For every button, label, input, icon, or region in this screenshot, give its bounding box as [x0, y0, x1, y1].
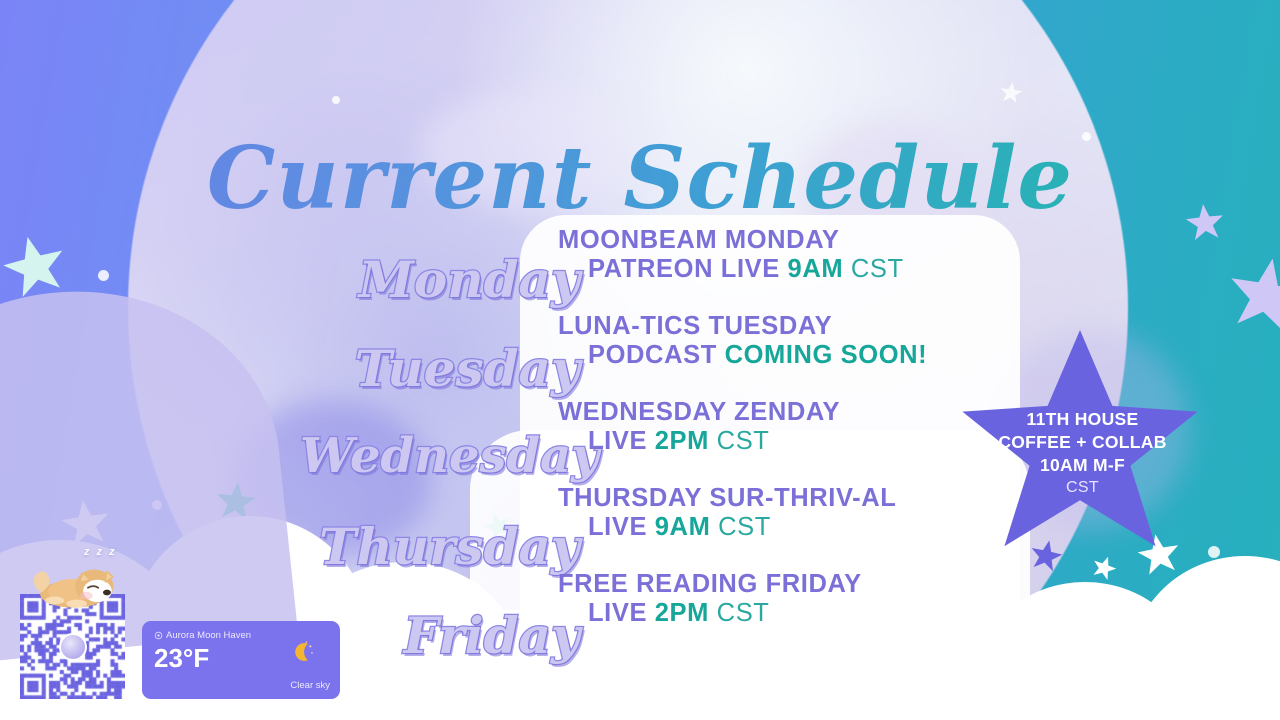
schedule-detail-prefix: LIVE	[588, 427, 655, 455]
day-label-tuesday: Tuesday	[300, 339, 580, 398]
star-icon	[1135, 531, 1184, 580]
schedule-time: 9AM	[655, 513, 711, 541]
badge-line-3: 10AM M-F	[985, 454, 1180, 477]
sparkle-dot	[332, 96, 340, 104]
schedule-timezone: CST	[710, 513, 771, 541]
sparkle-dot	[1208, 546, 1220, 558]
day-label-friday: Friday	[300, 606, 580, 665]
schedule-row-friday: FREE READING FRIDAY LIVE 2PM CST	[558, 570, 1028, 627]
badge-line-4: CST	[985, 477, 1180, 498]
schedule-title: THURSDAY SUR-THRIV-AL	[558, 484, 1028, 513]
schedule-time: 2PM	[655, 599, 709, 627]
day-label-thursday: Thursday	[300, 517, 580, 576]
schedule-title: LUNA-TICS TUESDAY	[558, 312, 1028, 341]
badge-line-2: COFFEE + COLLAB	[985, 431, 1180, 454]
day-label-wednesday: Wednesday	[300, 428, 580, 484]
location-pin-icon	[154, 631, 163, 640]
star-icon	[1089, 553, 1120, 584]
schedule-timezone: CST	[709, 599, 770, 627]
schedule-detail-prefix: PODCAST	[588, 341, 725, 369]
schedule-time: 2PM	[655, 427, 709, 455]
page-title: Current Schedule	[0, 128, 1280, 229]
schedule-detail: PATREON LIVE 9AM CST	[558, 255, 1028, 284]
schedule-time: COMING SOON!	[725, 341, 928, 369]
weather-location-label: Aurora Moon Haven	[166, 630, 251, 641]
schedule-detail: PODCAST COMING SOON!	[558, 341, 1028, 370]
schedule-row-wednesday: WEDNESDAY ZENDAY LIVE 2PM CST	[558, 398, 1028, 455]
schedule-detail-prefix: PATREON LIVE	[588, 255, 788, 283]
schedule-detail: LIVE 9AM CST	[558, 513, 1028, 542]
schedule-detail-prefix: LIVE	[588, 513, 655, 541]
schedule-detail-prefix: LIVE	[588, 599, 655, 627]
schedule-title: FREE READING FRIDAY	[558, 570, 1028, 599]
sparkle-dot	[98, 270, 109, 281]
schedule-time: 9AM	[788, 255, 844, 283]
moon-logo-icon	[59, 633, 87, 661]
weather-location: Aurora Moon Haven	[154, 630, 251, 641]
day-label-monday: Monday	[300, 250, 580, 309]
schedule-row-thursday: THURSDAY SUR-THRIV-AL LIVE 9AM CST	[558, 484, 1028, 541]
weather-description: Clear sky	[290, 680, 330, 691]
sleep-zzz-text: z z z	[84, 546, 117, 558]
weather-temperature: 23°F	[154, 643, 209, 674]
crescent-moon-icon	[290, 639, 316, 665]
badge-line-1: 11TH HOUSE	[985, 408, 1180, 431]
schedule-title: MOONBEAM MONDAY	[558, 226, 1028, 255]
schedule-timezone: CST	[843, 255, 904, 283]
schedule-graphic: Current Schedule Monday Tuesday Wednesda…	[0, 0, 1280, 720]
schedule-row-tuesday: LUNA-TICS TUESDAY PODCAST COMING SOON!	[558, 312, 1028, 369]
star-badge-text: 11TH HOUSE COFFEE + COLLAB 10AM M-F CST	[985, 408, 1180, 498]
star-icon	[1222, 252, 1280, 340]
schedule-detail: LIVE 2PM CST	[558, 427, 1028, 456]
weather-widget[interactable]: Aurora Moon Haven 23°F Clear sky	[142, 621, 340, 699]
schedule-list: MOONBEAM MONDAY PATREON LIVE 9AM CST LUN…	[558, 226, 1028, 656]
schedule-timezone: CST	[709, 427, 770, 455]
schedule-detail: LIVE 2PM CST	[558, 599, 1028, 628]
schedule-title: WEDNESDAY ZENDAY	[558, 398, 1028, 427]
schedule-row-monday: MOONBEAM MONDAY PATREON LIVE 9AM CST	[558, 226, 1028, 283]
